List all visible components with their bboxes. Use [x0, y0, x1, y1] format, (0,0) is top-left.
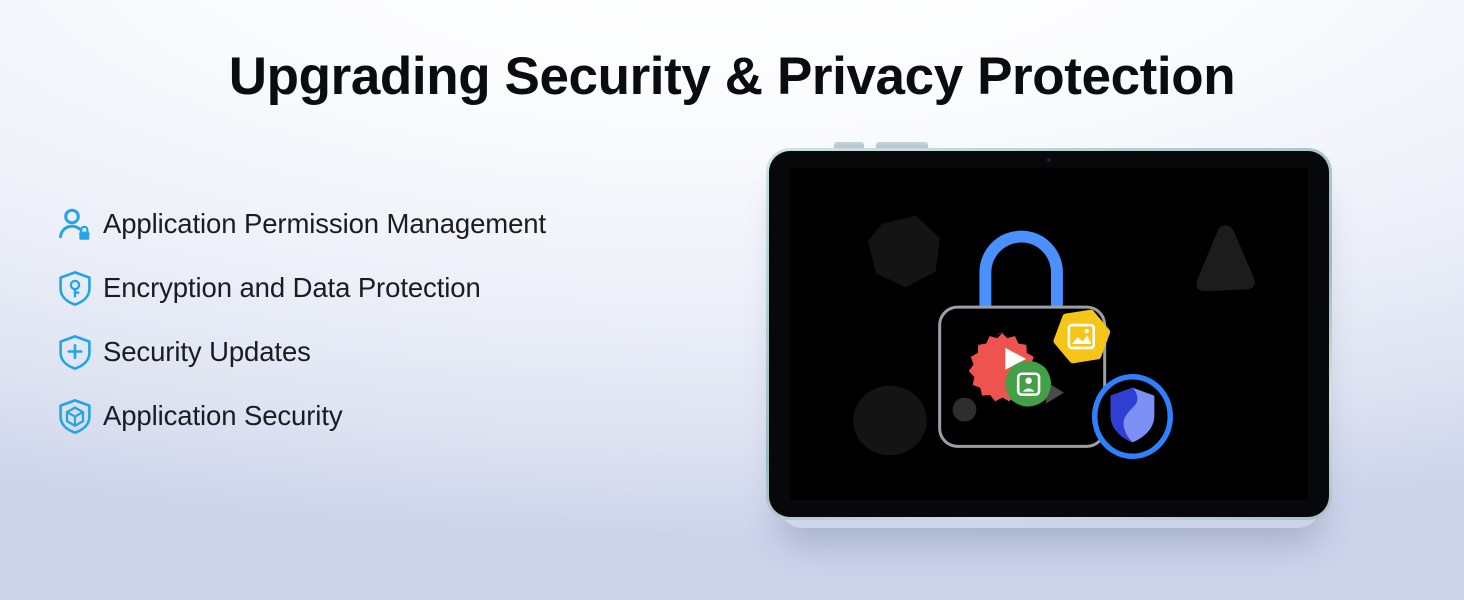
- front-camera-icon: [1047, 158, 1051, 162]
- security-illustration: [790, 168, 1308, 500]
- tablet-bezel: [769, 151, 1329, 517]
- shield-key-icon: [56, 269, 94, 307]
- feature-item-application-security: Application Security: [56, 384, 696, 448]
- shield-badge[interactable]: [1093, 375, 1173, 458]
- feature-label: Encryption and Data Protection: [103, 274, 481, 302]
- small-circle-decor: [953, 398, 977, 422]
- feature-label: Application Security: [103, 402, 343, 430]
- tablet-screen[interactable]: [790, 168, 1308, 500]
- feature-item-encryption-and-data-protection: Encryption and Data Protection: [56, 256, 696, 320]
- page-title: Upgrading Security & Privacy Protection: [0, 46, 1464, 107]
- shield-plus-icon: [56, 333, 94, 371]
- tablet-device: [766, 148, 1332, 520]
- tablet-frame: [766, 148, 1332, 520]
- feature-list: Application Permission Management Encryp…: [56, 192, 696, 448]
- triangle-decor: [1197, 225, 1255, 291]
- feature-item-security-updates: Security Updates: [56, 320, 696, 384]
- gallery-app-icon[interactable]: [1057, 313, 1107, 360]
- shield-cube-icon: [56, 397, 94, 435]
- security-privacy-banner: Upgrading Security & Privacy Protection …: [0, 0, 1464, 600]
- contacts-app-icon[interactable]: [1012, 367, 1045, 400]
- feature-label: Security Updates: [103, 338, 311, 366]
- feature-label: Application Permission Management: [103, 210, 546, 238]
- person-lock-icon: [56, 205, 94, 243]
- feature-item-application-permission-management: Application Permission Management: [56, 192, 696, 256]
- circle-decor: [853, 386, 927, 456]
- heptagon-decor: [868, 216, 940, 288]
